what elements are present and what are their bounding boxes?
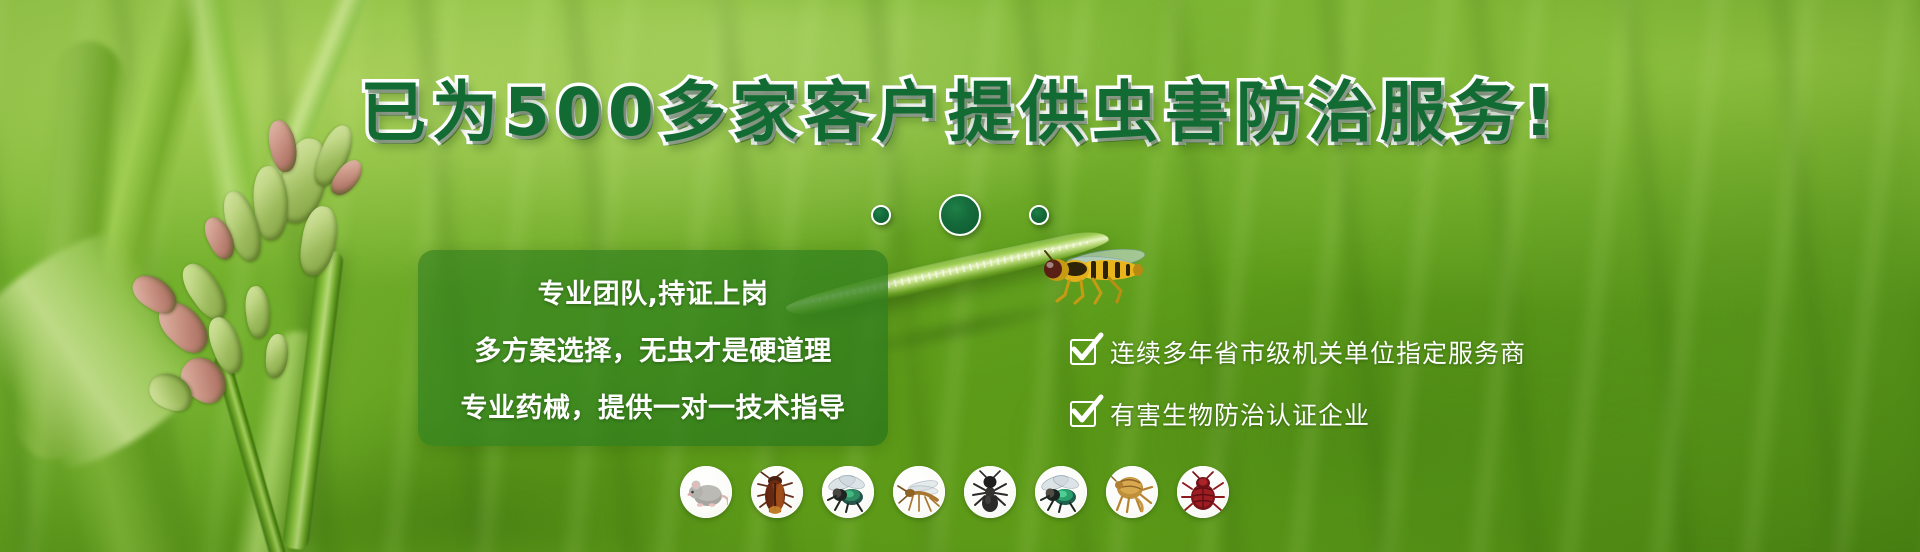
panel-line-2: 多方案选择，无虫才是硬道理 <box>474 329 832 368</box>
panel-line-3: 专业药械，提供一对一技术指导 <box>461 386 846 425</box>
bedbug-icon <box>1181 470 1225 514</box>
dot-small-right <box>1029 205 1049 225</box>
promo-banner: 已为500多家客户提供虫害防治服务! 专业团队,持证上岗 多方案选择，无虫才是硬… <box>0 0 1920 552</box>
headline-text: 已为500多家客户提供虫害防治服务! <box>360 74 1560 151</box>
list-item: 有害生物防治认证企业 <box>1070 396 1526 432</box>
pest-icon-bedbug[interactable] <box>1177 466 1229 518</box>
pest-icon-mouse[interactable] <box>680 466 732 518</box>
ant-icon <box>968 470 1012 514</box>
hoverfly-insect <box>1035 243 1159 305</box>
credentials-list: 连续多年省市级机关单位指定服务商 有害生物防治认证企业 <box>1070 334 1526 432</box>
housefly-icon <box>826 470 870 514</box>
pest-icon-mosquito[interactable] <box>893 466 945 518</box>
flea-icon <box>1110 470 1154 514</box>
selling-points-panel: 专业团队,持证上岗 多方案选择，无虫才是硬道理 专业药械，提供一对一技术指导 <box>418 250 888 446</box>
pest-icon-flea[interactable] <box>1106 466 1158 518</box>
cockroach-icon <box>755 470 799 514</box>
dot-large-center <box>939 194 981 236</box>
mouse-icon <box>684 470 728 514</box>
checkbox-check-icon <box>1070 339 1096 365</box>
dot-small-left <box>871 205 891 225</box>
credential-label: 有害生物防治认证企业 <box>1110 396 1370 432</box>
pest-icon-ant[interactable] <box>964 466 1016 518</box>
checkbox-check-icon <box>1070 401 1096 427</box>
plant-stem <box>282 250 344 551</box>
mosquito-icon <box>897 470 941 514</box>
panel-line-1: 专业团队,持证上岗 <box>538 272 769 311</box>
decorative-dots <box>0 194 1920 236</box>
pest-icon-greenfly[interactable] <box>1035 466 1087 518</box>
credential-label: 连续多年省市级机关单位指定服务商 <box>1110 334 1526 370</box>
greenfly-icon <box>1039 470 1083 514</box>
pest-icon-housefly[interactable] <box>822 466 874 518</box>
banner-headline: 已为500多家客户提供虫害防治服务! <box>0 78 1920 147</box>
pest-icon-cockroach[interactable] <box>751 466 803 518</box>
list-item: 连续多年省市级机关单位指定服务商 <box>1070 334 1526 370</box>
pest-icon-row <box>680 466 1229 518</box>
